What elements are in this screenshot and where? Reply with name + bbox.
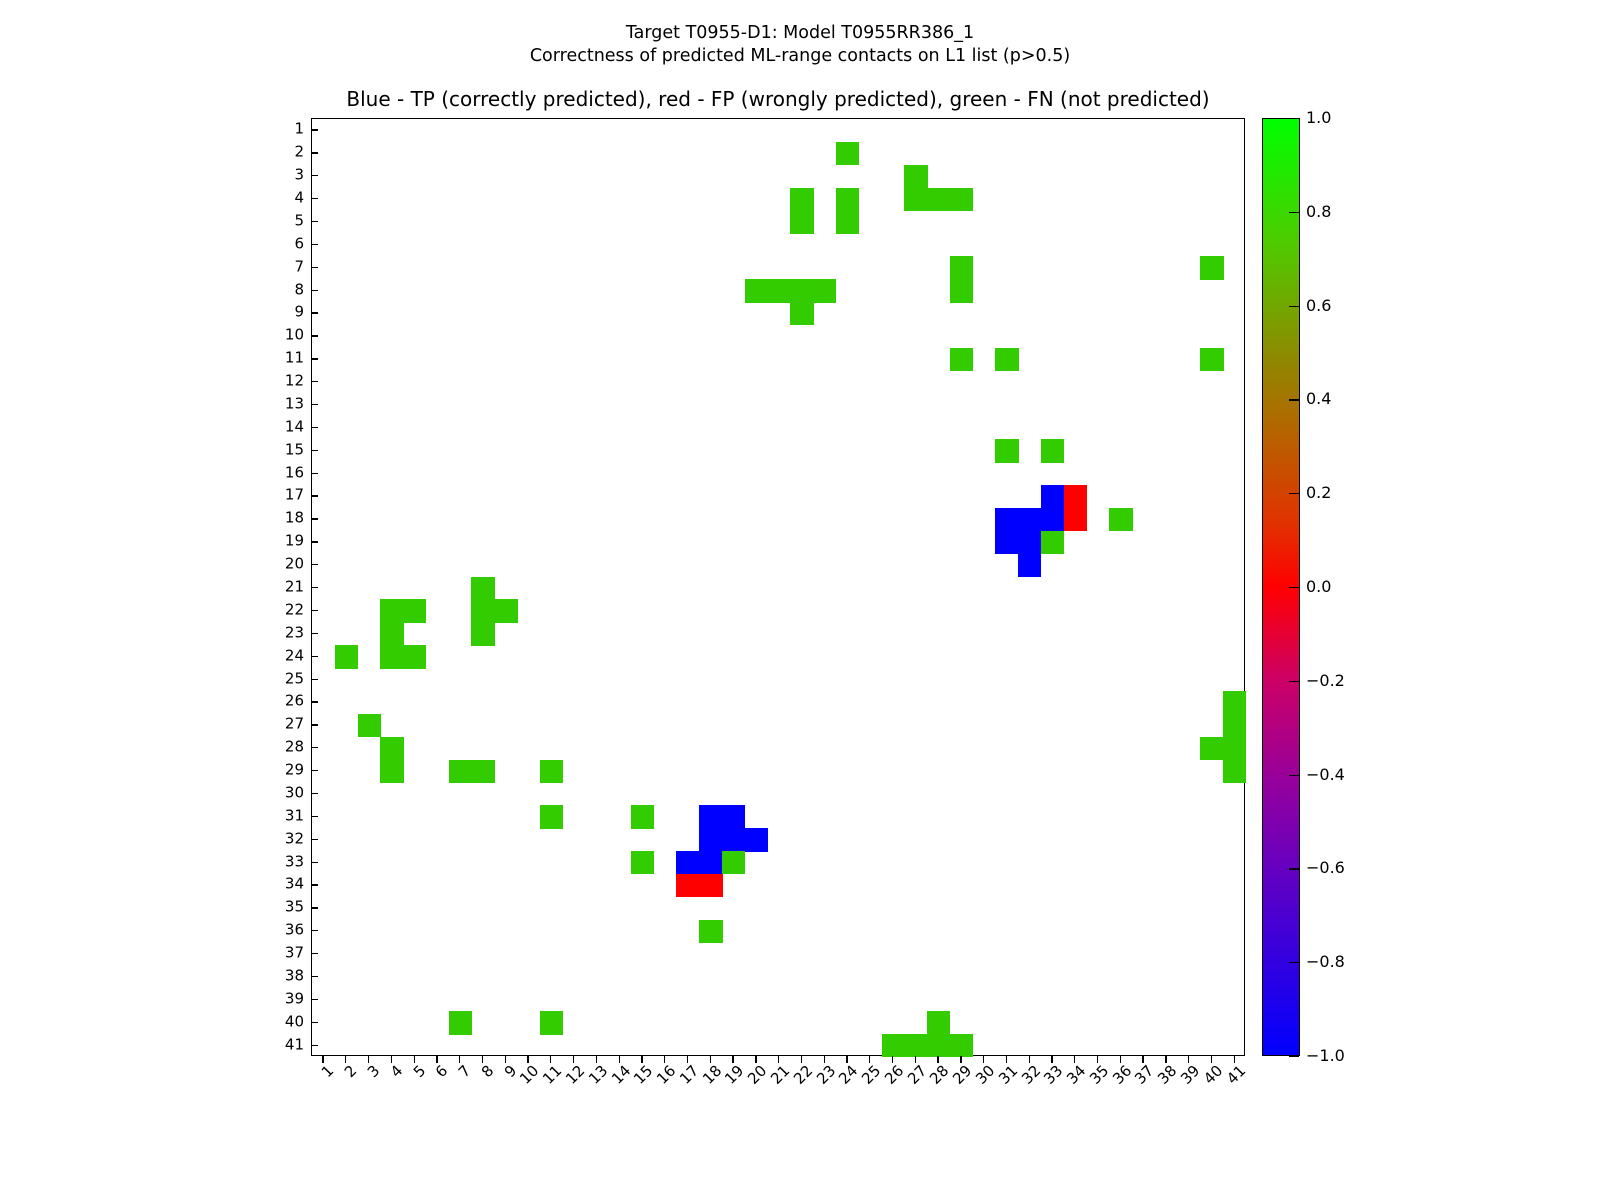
colorbar-tick-label: −0.4 (1306, 767, 1345, 783)
x-tick-label: 2 (342, 1063, 359, 1080)
y-tick-mark (311, 587, 318, 588)
contact-cell (1041, 439, 1064, 462)
y-tick-mark (311, 656, 318, 657)
contact-map-cells (312, 119, 1244, 1055)
colorbar-tick-mark (1289, 493, 1299, 494)
y-tick-label: 35 (285, 900, 304, 915)
y-tick-label: 2 (294, 145, 304, 160)
y-tick-mark (311, 953, 318, 954)
contact-cell (950, 188, 973, 211)
contact-cell (1200, 737, 1223, 760)
y-tick-mark (311, 221, 318, 222)
y-tick-label: 29 (285, 763, 304, 778)
contact-cell (699, 920, 722, 943)
colorbar-tick-label: 0.4 (1306, 391, 1331, 407)
x-tick-label: 30 (974, 1063, 998, 1087)
y-tick-mark (311, 427, 318, 428)
contact-cell (995, 439, 1018, 462)
contact-cell (950, 256, 973, 279)
contact-cell (1041, 531, 1064, 554)
y-tick-mark (311, 198, 318, 199)
contact-cell (1223, 691, 1246, 714)
y-tick-label: 28 (285, 740, 304, 755)
contact-cell (540, 1011, 563, 1034)
x-tick-label: 8 (479, 1063, 496, 1080)
y-tick-label: 19 (285, 534, 304, 549)
contact-cell (790, 188, 813, 211)
y-tick-label: 33 (285, 854, 304, 869)
colorbar-tick-mark (1289, 306, 1299, 307)
colorbar-tick-label: −0.2 (1306, 673, 1345, 689)
contact-cell (904, 165, 927, 188)
y-tick-label: 13 (285, 396, 304, 411)
y-tick-mark (311, 358, 318, 359)
contact-cell (995, 348, 1018, 371)
contact-cell (699, 805, 722, 828)
colorbar-tick-label: 0.8 (1306, 204, 1331, 220)
y-tick-label: 31 (285, 808, 304, 823)
contact-cell (1200, 256, 1223, 279)
contact-cell (745, 828, 768, 851)
y-tick-label: 4 (294, 191, 304, 206)
contact-cell (1223, 737, 1246, 760)
contact-cell (1018, 554, 1041, 577)
y-tick-label: 37 (285, 946, 304, 961)
y-tick-label: 22 (285, 602, 304, 617)
y-tick-label: 14 (285, 419, 304, 434)
y-tick-label: 1 (294, 122, 304, 137)
x-tick-label: 12 (563, 1063, 587, 1087)
contact-cell (1200, 348, 1223, 371)
y-tick-label: 27 (285, 717, 304, 732)
contact-cell (699, 874, 722, 897)
y-tick-label: 32 (285, 831, 304, 846)
y-tick-mark (311, 473, 318, 474)
contact-cell (449, 1011, 472, 1034)
x-tick-label: 1 (320, 1063, 337, 1080)
colorbar-tick-label: −0.8 (1306, 954, 1345, 970)
contact-cell (927, 1034, 950, 1057)
colorbar-tick-label: −1.0 (1306, 1048, 1345, 1064)
y-tick-label: 24 (285, 648, 304, 663)
contact-cell (540, 760, 563, 783)
chart-title-line-2: Correctness of predicted ML-range contac… (0, 45, 1600, 68)
colorbar-tick-mark (1289, 962, 1299, 963)
x-tick-label: 3 (365, 1063, 382, 1080)
x-tick-label: 21 (768, 1063, 792, 1087)
y-tick-label: 6 (294, 236, 304, 251)
contact-cell (904, 188, 927, 211)
colorbar-tick-mark (1289, 399, 1299, 400)
contact-cell (927, 1011, 950, 1034)
y-tick-label: 10 (285, 328, 304, 343)
contact-cell (403, 599, 426, 622)
y-tick-label: 26 (285, 694, 304, 709)
x-tick-label: 41 (1224, 1063, 1248, 1087)
contact-cell (403, 645, 426, 668)
x-tick-label: 35 (1087, 1063, 1111, 1087)
y-tick-label: 40 (285, 1014, 304, 1029)
colorbar-tick-mark (1289, 587, 1299, 588)
y-tick-mark (311, 839, 318, 840)
contact-cell (722, 805, 745, 828)
colorbar-tick-label: 0.0 (1306, 579, 1331, 595)
contact-cell (790, 211, 813, 234)
y-tick-mark (311, 564, 318, 565)
y-tick-mark (311, 770, 318, 771)
x-tick-label: 31 (996, 1063, 1020, 1087)
contact-cell (882, 1034, 905, 1057)
contact-cell (927, 188, 950, 211)
y-tick-mark (311, 450, 318, 451)
contact-cell (1018, 508, 1041, 531)
y-tick-mark (311, 862, 318, 863)
y-tick-mark (311, 152, 318, 153)
x-tick-label: 5 (411, 1063, 428, 1080)
contact-cell (768, 279, 791, 302)
y-tick-label: 3 (294, 168, 304, 183)
colorbar-tick-mark (1289, 1056, 1299, 1057)
contact-cell (790, 302, 813, 325)
y-tick-mark (311, 129, 318, 130)
contact-cell (836, 211, 859, 234)
contact-cell (950, 279, 973, 302)
y-tick-label: 16 (285, 465, 304, 480)
y-tick-mark (311, 884, 318, 885)
contact-cell (790, 279, 813, 302)
y-tick-label: 5 (294, 213, 304, 228)
y-tick-mark (311, 312, 318, 313)
chart-title-line-1: Target T0955-D1: Model T0955RR386_1 (0, 22, 1600, 45)
y-tick-mark (311, 610, 318, 611)
y-tick-mark (311, 930, 318, 931)
contact-cell (1041, 485, 1064, 508)
contact-cell (380, 760, 403, 783)
y-tick-mark (311, 1022, 318, 1023)
y-tick-mark (311, 747, 318, 748)
contact-cell (471, 622, 494, 645)
y-tick-mark (311, 175, 318, 176)
y-tick-mark (311, 724, 318, 725)
y-tick-label: 7 (294, 259, 304, 274)
y-tick-mark (311, 290, 318, 291)
y-tick-mark (311, 404, 318, 405)
colorbar-tick-label: 0.6 (1306, 298, 1331, 314)
contact-cell (631, 851, 654, 874)
y-tick-mark (311, 541, 318, 542)
contact-cell (699, 851, 722, 874)
contact-cell (631, 805, 654, 828)
y-tick-mark (311, 1045, 318, 1046)
contact-cell (1109, 508, 1132, 531)
contact-cell (380, 599, 403, 622)
y-tick-mark (311, 793, 318, 794)
x-tick-label: 13 (586, 1063, 610, 1087)
y-tick-label: 11 (285, 351, 304, 366)
colorbar-tick-mark (1289, 212, 1299, 213)
contact-cell (836, 188, 859, 211)
y-tick-mark (311, 816, 318, 817)
y-tick-label: 18 (285, 511, 304, 526)
colorbar-tick-mark (1289, 775, 1299, 776)
colorbar-tick-mark (1289, 118, 1299, 119)
colorbar-tick-label: −0.6 (1306, 860, 1345, 876)
y-tick-mark (311, 701, 318, 702)
y-tick-mark (311, 999, 318, 1000)
x-tick-label: 9 (502, 1063, 519, 1080)
x-tick-label: 39 (1179, 1063, 1203, 1087)
contact-cell (1041, 508, 1064, 531)
y-tick-label: 41 (285, 1037, 304, 1052)
colorbar-tick-label: 1.0 (1306, 110, 1331, 126)
contact-cell (950, 1034, 973, 1057)
contact-cell (950, 348, 973, 371)
contact-cell (745, 279, 768, 302)
contact-cell (540, 805, 563, 828)
y-tick-mark (311, 518, 318, 519)
y-tick-label: 15 (285, 442, 304, 457)
contact-cell (380, 645, 403, 668)
x-tick-label: 7 (456, 1063, 473, 1080)
contact-cell (380, 737, 403, 760)
contact-cell (1223, 714, 1246, 737)
contact-cell (380, 622, 403, 645)
contact-cell (676, 851, 699, 874)
y-tick-label: 23 (285, 625, 304, 640)
y-tick-mark (311, 495, 318, 496)
x-tick-label: 26 (882, 1063, 906, 1087)
contact-cell (995, 508, 1018, 531)
contact-cell (904, 1034, 927, 1057)
contact-cell (722, 828, 745, 851)
y-tick-mark (311, 267, 318, 268)
y-tick-mark (311, 335, 318, 336)
contact-cell (1223, 760, 1246, 783)
y-tick-label: 30 (285, 785, 304, 800)
contact-map-plot (311, 118, 1245, 1056)
colorbar-tick-mark (1289, 681, 1299, 682)
chart-title-block: Target T0955-D1: Model T0955RR386_1 Corr… (0, 22, 1600, 68)
contact-cell (471, 599, 494, 622)
y-tick-label: 36 (285, 923, 304, 938)
y-tick-label: 25 (285, 671, 304, 686)
contact-cell (1018, 531, 1041, 554)
colorbar-tick-mark (1289, 868, 1299, 869)
y-tick-mark (311, 381, 318, 382)
y-tick-label: 21 (285, 580, 304, 595)
y-tick-mark (311, 633, 318, 634)
x-tick-label: 6 (434, 1063, 451, 1080)
y-tick-mark (311, 244, 318, 245)
contact-cell (995, 531, 1018, 554)
colorbar-tick-label: 0.2 (1306, 485, 1331, 501)
x-tick-label: 17 (677, 1063, 701, 1087)
contact-cell (836, 142, 859, 165)
y-tick-label: 34 (285, 877, 304, 892)
y-tick-label: 9 (294, 305, 304, 320)
contact-cell (1064, 508, 1087, 531)
contact-cell (699, 828, 722, 851)
y-tick-label: 8 (294, 282, 304, 297)
y-tick-label: 39 (285, 991, 304, 1006)
y-tick-label: 17 (285, 488, 304, 503)
x-tick-label: 22 (791, 1063, 815, 1087)
contact-cell (471, 760, 494, 783)
contact-cell (676, 874, 699, 897)
contact-cell (494, 599, 517, 622)
contact-cell (722, 851, 745, 874)
y-tick-mark (311, 907, 318, 908)
x-tick-label: 40 (1201, 1063, 1225, 1087)
y-tick-label: 38 (285, 968, 304, 983)
y-tick-mark (311, 976, 318, 977)
contact-cell (813, 279, 836, 302)
contact-cell (1064, 485, 1087, 508)
contact-cell (358, 714, 381, 737)
x-tick-label: 4 (388, 1063, 405, 1080)
y-tick-label: 12 (285, 374, 304, 389)
contact-cell (449, 760, 472, 783)
contact-cell (471, 577, 494, 600)
contact-cell (335, 645, 358, 668)
y-tick-mark (311, 679, 318, 680)
y-tick-label: 20 (285, 557, 304, 572)
